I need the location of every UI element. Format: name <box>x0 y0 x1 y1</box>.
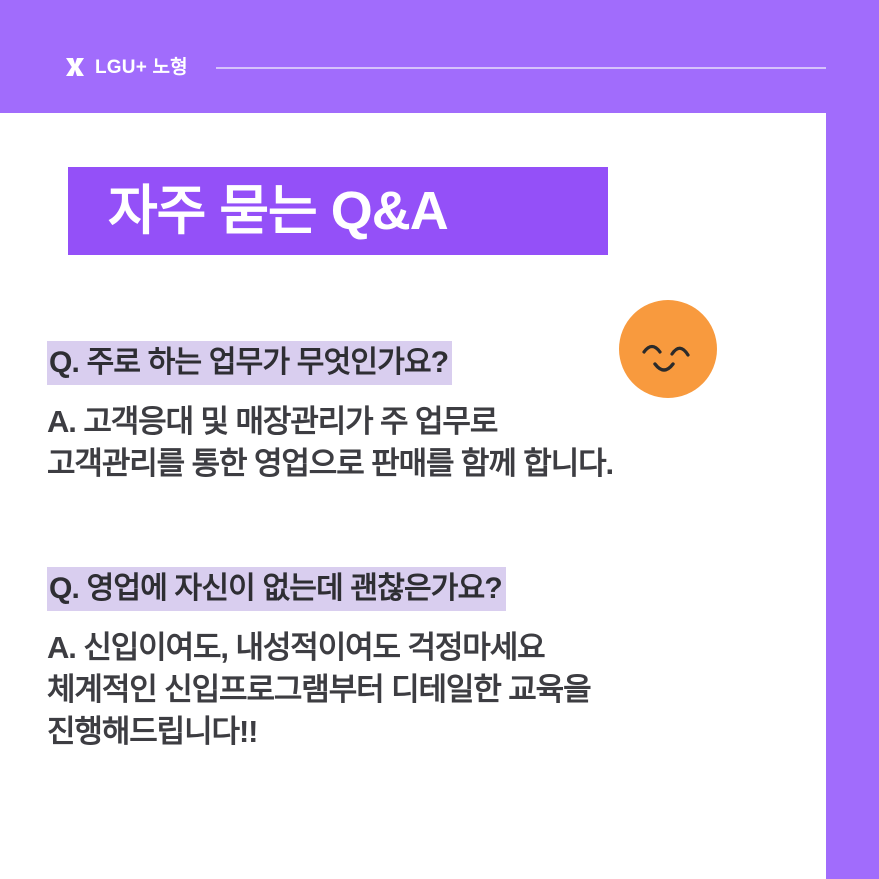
faq-answer: A. 신입이여도, 내성적이여도 걱정마세요 체계적인 신입프로그램부터 디테일… <box>47 627 807 753</box>
faq-item: Q. 주로 하는 업무가 무엇인가요? A. 고객응대 및 매장관리가 주 업무… <box>47 341 807 485</box>
header-divider-rule <box>216 67 826 69</box>
faq-item: Q. 영업에 자신이 없는데 괜찮은가요? A. 신입이여도, 내성적이여도 걱… <box>47 567 807 753</box>
faq-answer-line: A. 신입이여도, 내성적이여도 걱정마세요 <box>47 627 807 669</box>
faq-question: Q. 영업에 자신이 없는데 괜찮은가요? <box>47 567 506 611</box>
page-title: 자주 묻는 Q&A <box>108 184 448 238</box>
faq-answer-line: 체계적인 신입프로그램부터 디테일한 교육을 <box>47 669 807 711</box>
right-purple-band <box>826 0 879 879</box>
faq-card: LGU+ 노형 자주 묻는 Q&A Q. 주로 하는 업무가 무엇인가요? A.… <box>0 0 879 879</box>
faq-question: Q. 주로 하는 업무가 무엇인가요? <box>47 341 452 385</box>
brand-name: LGU+ 노형 <box>95 58 188 77</box>
brand-lockup: LGU+ 노형 <box>64 52 188 82</box>
lgu-plus-x-logo-icon <box>64 56 86 78</box>
faq-answer: A. 고객응대 및 매장관리가 주 업무로 고객관리를 통한 영업으로 판매를 … <box>47 401 807 485</box>
title-banner: 자주 묻는 Q&A <box>68 167 608 255</box>
faq-answer-line: 고객관리를 통한 영업으로 판매를 함께 합니다. <box>47 443 807 485</box>
faq-answer-line: 진행해드립니다!! <box>47 711 807 753</box>
faq-answer-line: A. 고객응대 및 매장관리가 주 업무로 <box>47 401 807 443</box>
